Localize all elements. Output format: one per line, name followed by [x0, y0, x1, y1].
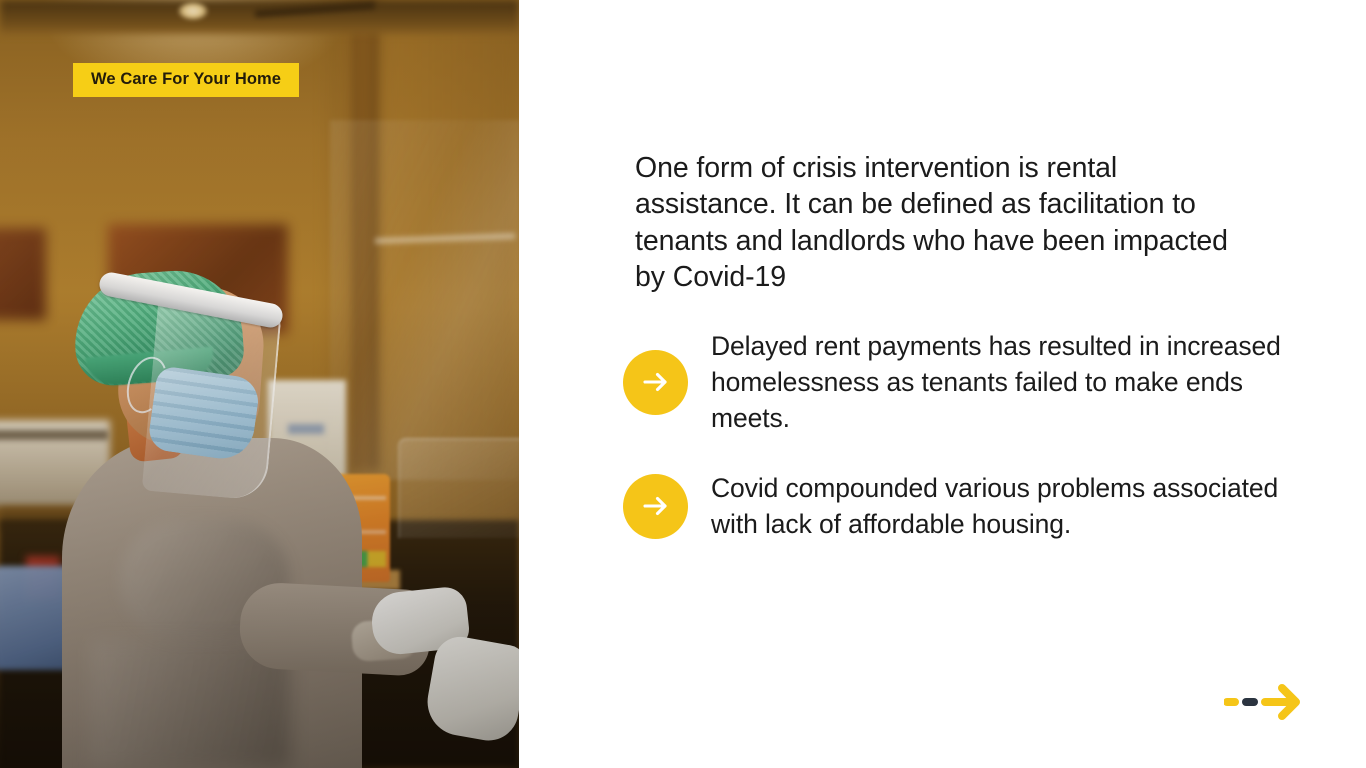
arrow-right-icon	[623, 474, 688, 539]
bullet-list: Delayed rent payments has resulted in in…	[623, 328, 1303, 576]
photo-shelf-edge	[0, 430, 108, 440]
photo-glass-partition	[330, 120, 519, 480]
bullet-item-2-text: Covid compounded various problems associ…	[711, 470, 1303, 542]
content-panel: One form of crisis intervention is renta…	[519, 0, 1366, 768]
dashed-arrow-right-icon	[1224, 682, 1314, 722]
photo-acrylic-screen	[398, 438, 519, 538]
slide: We Care For Your Home One form of crisis…	[0, 0, 1366, 768]
photo-whiteboard-marking	[288, 424, 324, 434]
photo-ceiling	[0, 0, 519, 34]
bullet-item-2: Covid compounded various problems associ…	[623, 470, 1303, 542]
bullet-item-1-text: Delayed rent payments has resulted in in…	[711, 328, 1303, 436]
healthcare-worker-photo: We Care For Your Home	[0, 0, 519, 768]
intro-paragraph: One form of crisis intervention is renta…	[635, 150, 1260, 296]
tagline-badge: We Care For Your Home	[73, 63, 299, 97]
bullet-item-1: Delayed rent payments has resulted in in…	[623, 328, 1303, 436]
photo-wall-frame-left	[0, 228, 46, 320]
arrow-right-icon	[623, 350, 688, 415]
photo-ceiling-downlight	[178, 2, 208, 20]
